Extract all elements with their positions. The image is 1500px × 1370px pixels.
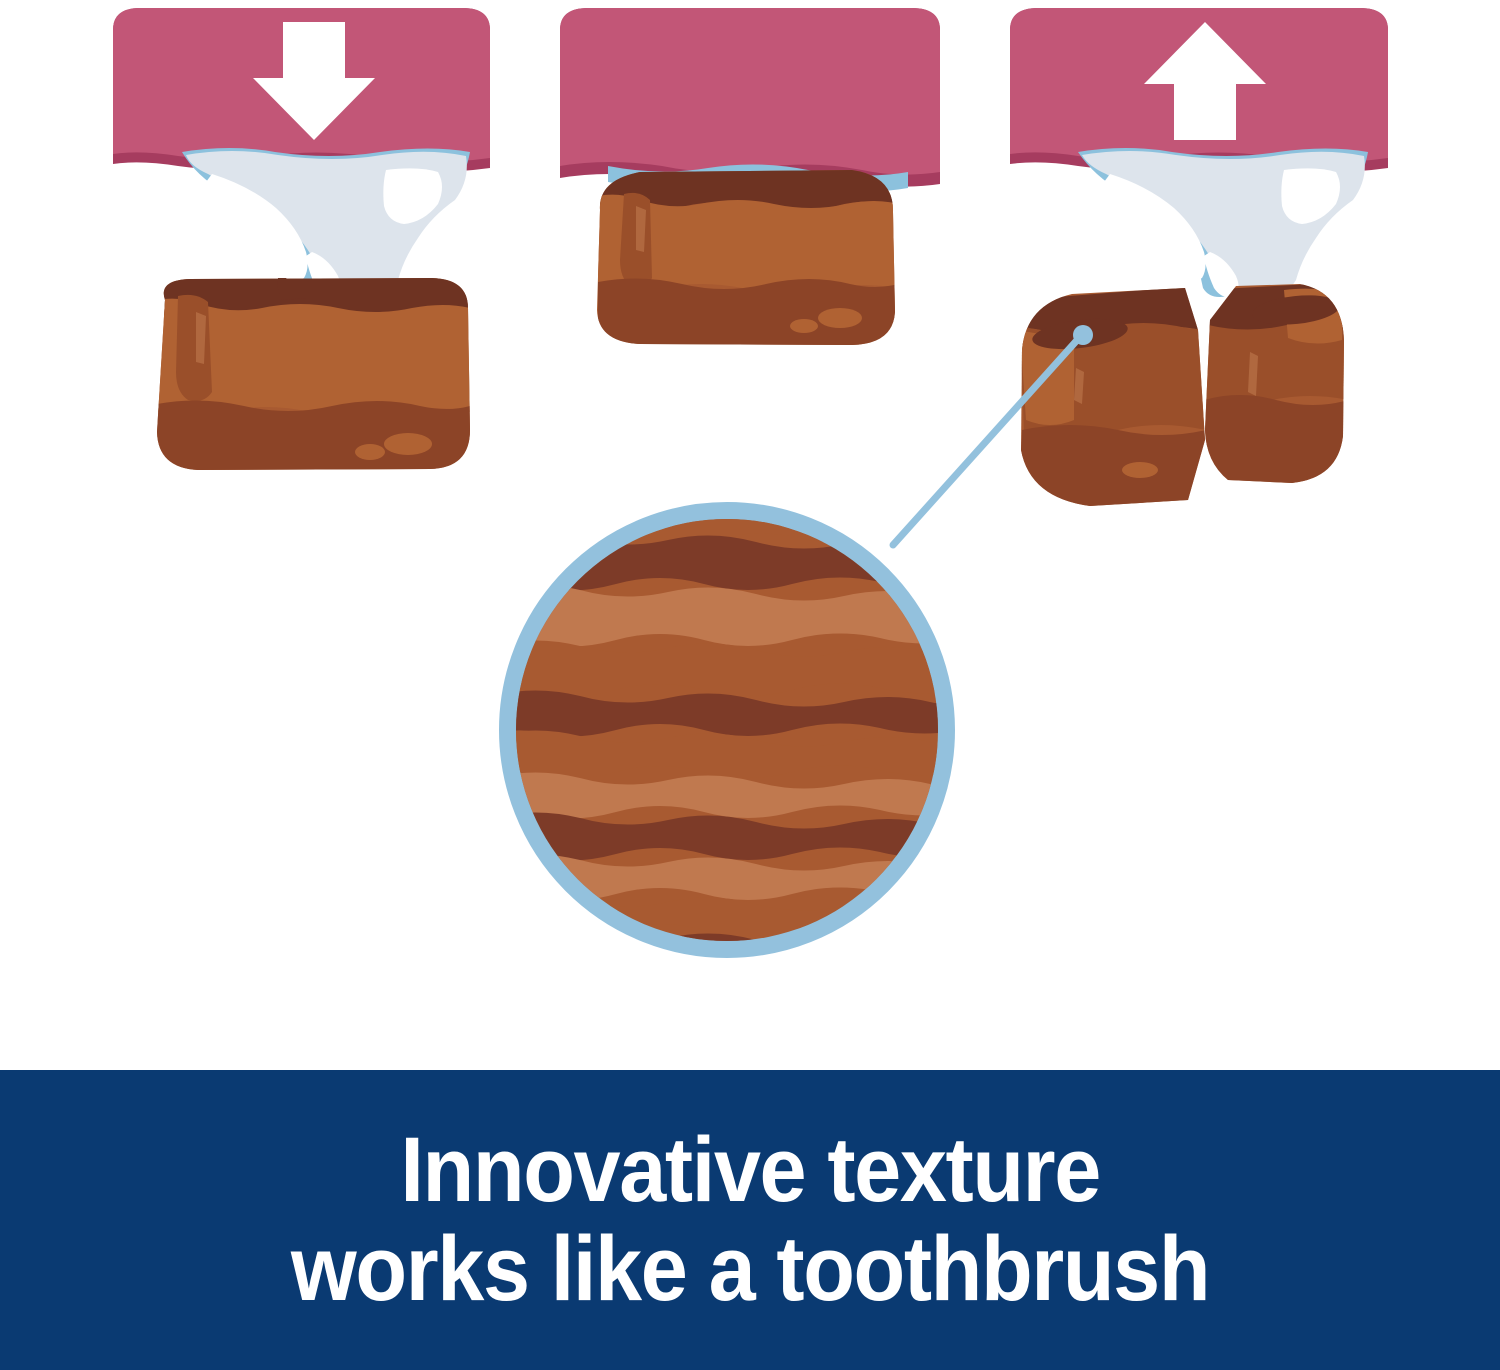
panel-bite-down <box>113 8 490 472</box>
kibble-whole-2 <box>596 168 898 348</box>
headline-banner: Innovative texture works like a toothbru… <box>0 1070 1500 1370</box>
kibble-split-left <box>1016 286 1206 512</box>
headline-line-2: works like a toothbrush <box>291 1220 1209 1319</box>
panel-contact <box>560 8 940 348</box>
illustration-svg <box>0 0 1500 1070</box>
gum-block-2 <box>560 8 940 175</box>
headline-line-1: Innovative texture <box>400 1121 1100 1220</box>
illustration-area <box>0 0 1500 1070</box>
panel-lift-up <box>1010 8 1388 512</box>
magnifier-circle <box>500 503 960 966</box>
poster-canvas: Innovative texture works like a toothbru… <box>0 0 1500 1370</box>
callout-dot <box>1073 325 1093 345</box>
kibble-split-right <box>1202 282 1348 490</box>
kibble-whole-1 <box>155 276 470 472</box>
